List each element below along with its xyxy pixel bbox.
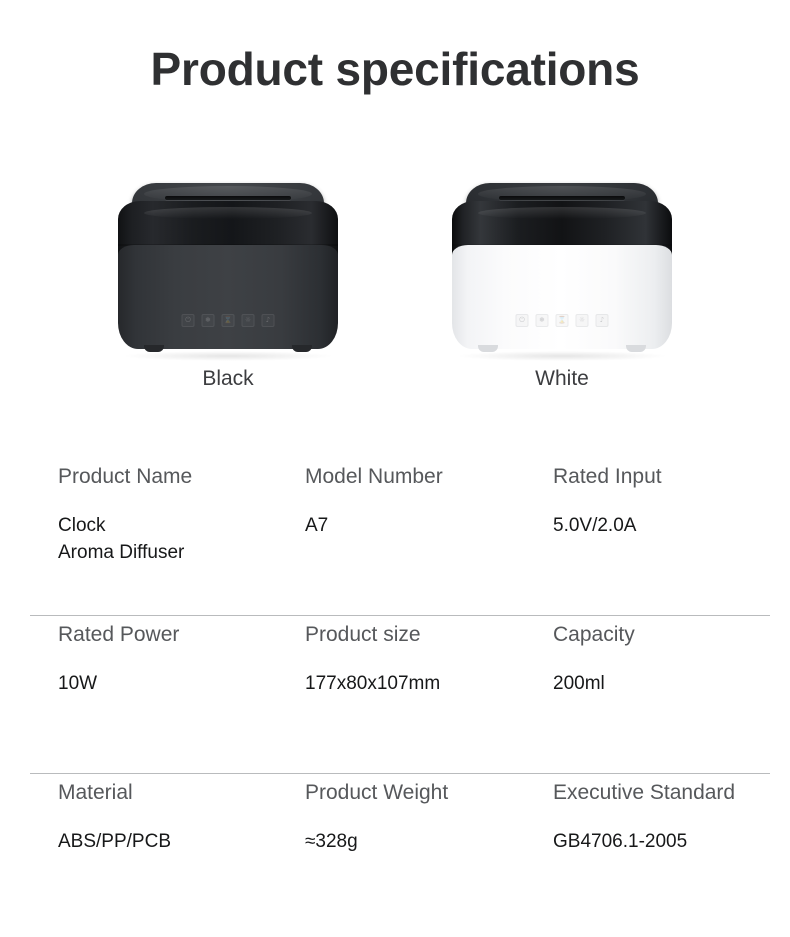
device-shadow: [457, 351, 667, 361]
spec-cell-rated-power: Rated Power 10W: [58, 622, 303, 698]
specifications-table: Product Name Clock Aroma Diffuser Model …: [0, 464, 790, 900]
spec-value: A7: [305, 513, 550, 540]
variant-label-black: Black: [78, 367, 378, 391]
spec-cell-product-size: Product size 177x80x107mm: [305, 622, 550, 698]
diffuser-image-white: ⏻ ❅ ⌛ ☼ ♪: [446, 183, 678, 355]
spec-row: Rated Power 10W Product size 177x80x107m…: [0, 622, 790, 780]
spec-value: 177x80x107mm: [305, 671, 550, 698]
timer-icon[interactable]: ⌛: [556, 314, 569, 327]
spec-value: 10W: [58, 671, 303, 698]
spec-value: Clock Aroma Diffuser: [58, 513, 303, 567]
spec-label: Rated Power: [58, 622, 303, 647]
spec-label: Product Weight: [305, 780, 550, 805]
spec-value: 5.0V/2.0A: [553, 513, 788, 540]
timer-icon[interactable]: ⌛: [222, 314, 235, 327]
light-icon[interactable]: ☼: [242, 314, 255, 327]
row-divider: [30, 773, 770, 774]
spec-row: Material ABS/PP/PCB Product Weight ≈328g…: [0, 780, 790, 900]
spec-cell-executive-standard: Executive Standard GB4706.1-2005: [553, 780, 788, 856]
product-gallery: ⏻ ❅ ⌛ ☼ ♪ Black ⏻: [0, 175, 790, 425]
variant-label-white: White: [412, 367, 712, 391]
device-body: ⏻ ❅ ⌛ ☼ ♪: [118, 245, 338, 349]
device-control-panel[interactable]: ⏻ ❅ ⌛ ☼ ♪: [516, 314, 609, 327]
spec-value: GB4706.1-2005: [553, 829, 788, 856]
spec-cell-rated-input: Rated Input 5.0V/2.0A: [553, 464, 788, 540]
mist-outlet-slot: [499, 196, 626, 200]
power-icon[interactable]: ⏻: [516, 314, 529, 327]
spec-cell-material: Material ABS/PP/PCB: [58, 780, 303, 856]
mist-outlet-slot: [165, 196, 292, 200]
spec-label: Product Name: [58, 464, 303, 489]
spec-cell-product-name: Product Name Clock Aroma Diffuser: [58, 464, 303, 567]
device-foot-left: [478, 345, 498, 352]
spec-cell-model-number: Model Number A7: [305, 464, 550, 540]
alarm-icon[interactable]: ♪: [596, 314, 609, 327]
spec-label: Product size: [305, 622, 550, 647]
device-foot-right: [292, 345, 312, 352]
device-foot-left: [144, 345, 164, 352]
device-shadow: [123, 351, 333, 361]
alarm-icon[interactable]: ♪: [262, 314, 275, 327]
device-foot-right: [626, 345, 646, 352]
row-divider: [30, 615, 770, 616]
spec-value: ≈328g: [305, 829, 550, 856]
device-control-panel[interactable]: ⏻ ❅ ⌛ ☼ ♪: [182, 314, 275, 327]
diffuser-image-black: ⏻ ❅ ⌛ ☼ ♪: [112, 183, 344, 355]
device-body: ⏻ ❅ ⌛ ☼ ♪: [452, 245, 672, 349]
page-title: Product specifications: [0, 44, 790, 95]
spec-label: Material: [58, 780, 303, 805]
light-icon[interactable]: ☼: [576, 314, 589, 327]
spec-row: Product Name Clock Aroma Diffuser Model …: [0, 464, 790, 622]
spec-label: Executive Standard: [553, 780, 788, 805]
spec-cell-capacity: Capacity 200ml: [553, 622, 788, 698]
mist-icon[interactable]: ❅: [536, 314, 549, 327]
spec-value: 200ml: [553, 671, 788, 698]
spec-label: Model Number: [305, 464, 550, 489]
product-variant-white[interactable]: ⏻ ❅ ⌛ ☼ ♪ White: [412, 175, 712, 425]
mist-icon[interactable]: ❅: [202, 314, 215, 327]
spec-label: Rated Input: [553, 464, 788, 489]
spec-label: Capacity: [553, 622, 788, 647]
spec-cell-product-weight: Product Weight ≈328g: [305, 780, 550, 856]
power-icon[interactable]: ⏻: [182, 314, 195, 327]
product-variant-black[interactable]: ⏻ ❅ ⌛ ☼ ♪ Black: [78, 175, 378, 425]
spec-value: ABS/PP/PCB: [58, 829, 303, 856]
